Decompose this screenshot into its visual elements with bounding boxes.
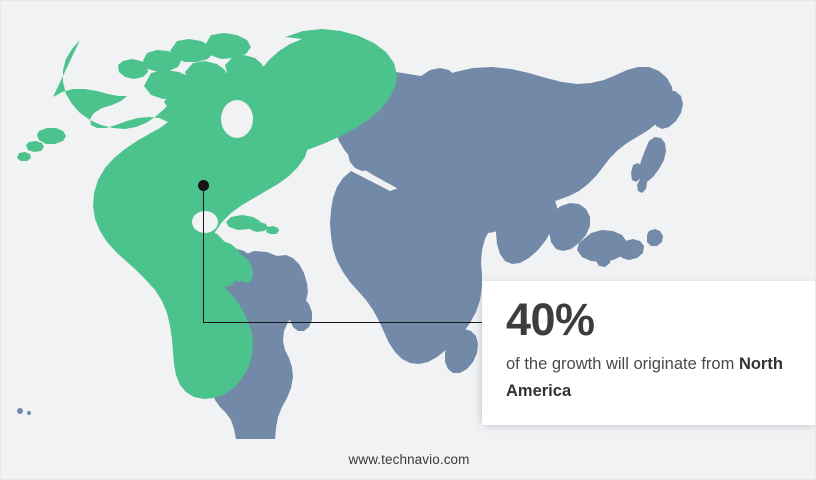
footer-url: www.technavio.com bbox=[349, 452, 470, 467]
stat-description-prefix: of the growth will originate from bbox=[506, 355, 739, 373]
footer: www.technavio.com bbox=[1, 439, 816, 479]
geography-infographic: 40% of the growth will originate from No… bbox=[0, 0, 816, 480]
stat-value: 40% bbox=[506, 297, 816, 343]
stat-callout-card: 40% of the growth will originate from No… bbox=[482, 281, 816, 425]
stat-description: of the growth will originate from North … bbox=[506, 351, 796, 404]
hudson-bay bbox=[221, 100, 253, 138]
gulf-of-mexico bbox=[192, 211, 218, 233]
